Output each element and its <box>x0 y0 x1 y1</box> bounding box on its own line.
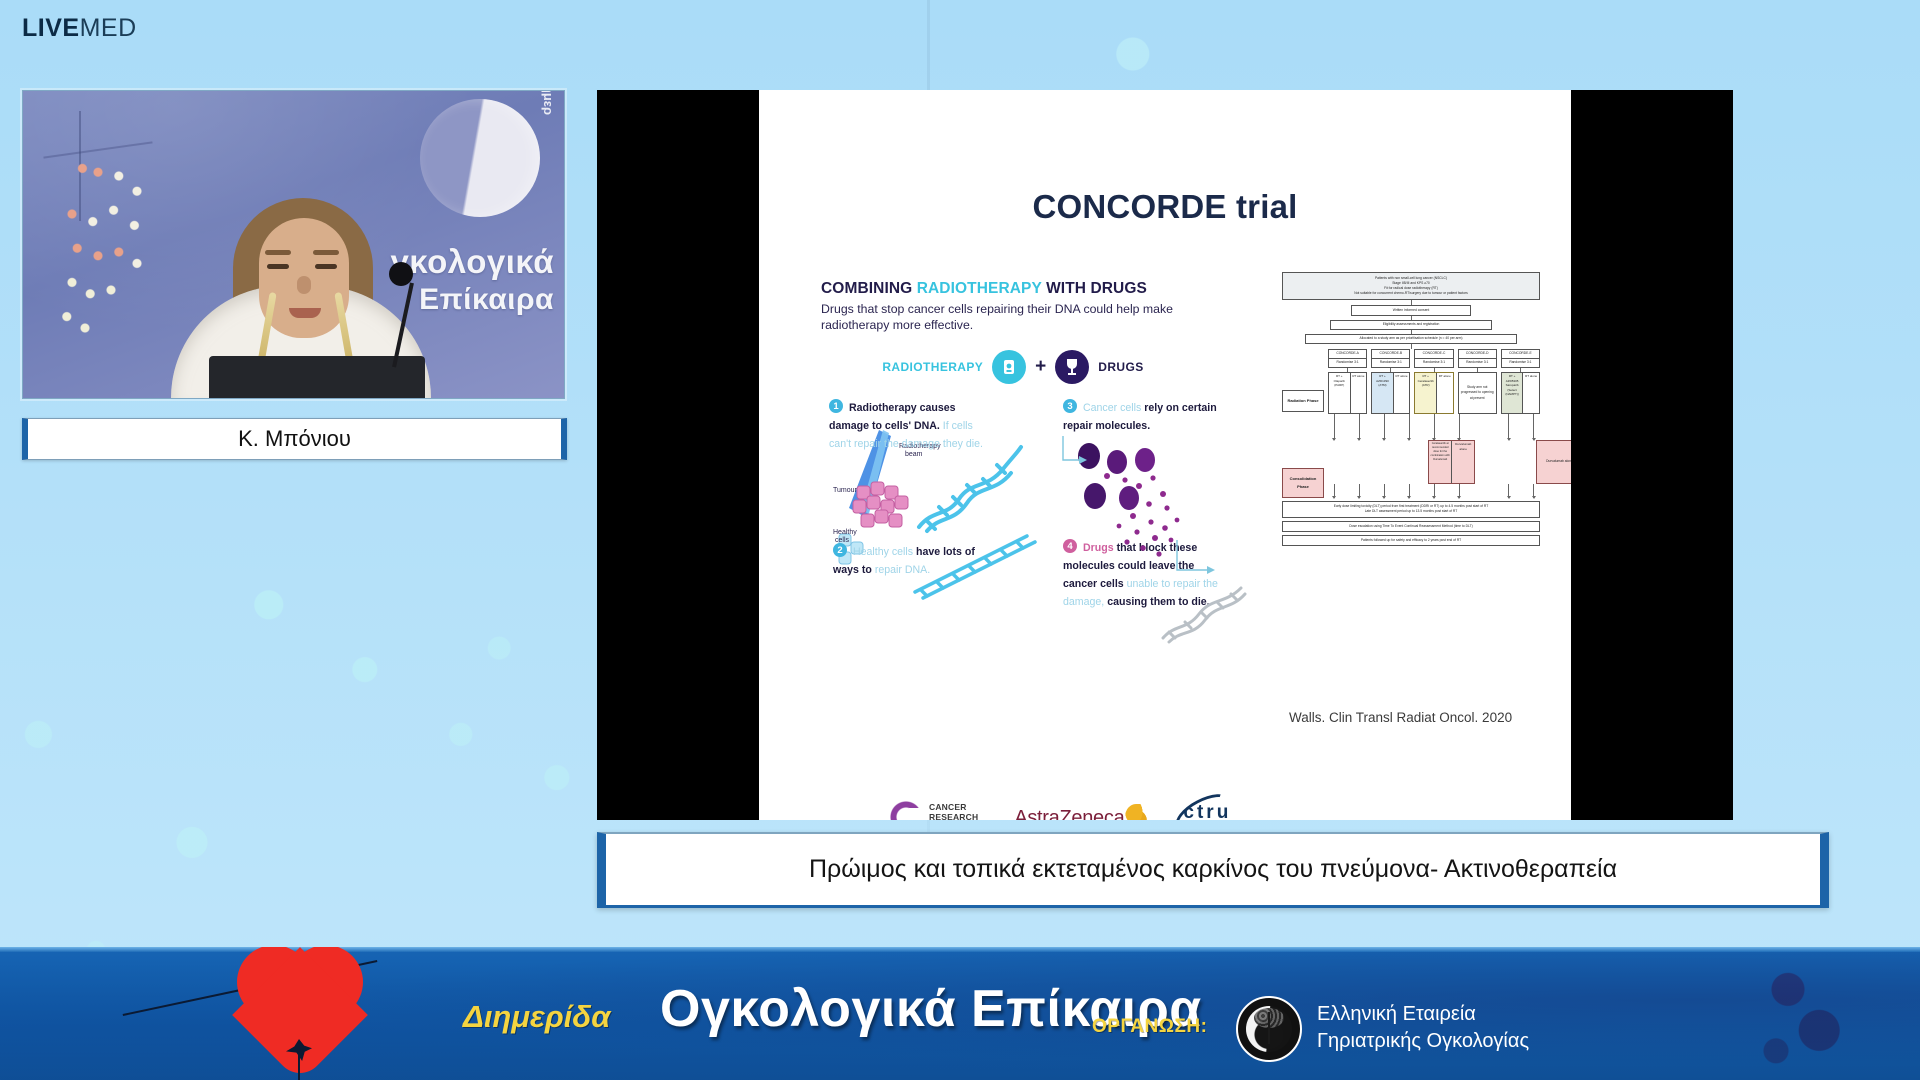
flow-arrow-row-2 <box>1328 484 1540 498</box>
infographic-subtitle: Drugs that stop cancer cells repairing t… <box>821 302 1221 334</box>
presentation-slide[interactable]: CONCORDE trial COMBINING RADIOTHERAPY WI… <box>759 90 1571 820</box>
flow-arrow2-a2 <box>1359 484 1360 498</box>
flow-arrow-b <box>1384 414 1385 440</box>
arm-c-randomise: Randomise 3:1 <box>1414 359 1453 368</box>
speaker-name-text: Κ. Μπόνιου <box>238 426 351 452</box>
flow-consolidation-phase-label: Consolidation Phase <box>1282 468 1324 498</box>
footer-dimerida-label: Διημερίδα <box>463 999 610 1035</box>
arm-e-title: CONCORDE-E <box>1501 349 1540 359</box>
radiotherapy-infographic: COMBINING RADIOTHERAPY WITH DRUGS Drugs … <box>821 280 1251 384</box>
heart-decoration <box>237 947 363 1053</box>
flow-consolidation-row: Ceralasertib at recommended dose for the… <box>1328 440 1540 484</box>
flow-arm-e: CONCORDE-E Randomise 3:1 RT + AZD5305 Sa… <box>1501 349 1540 414</box>
arm-c-left: RT + Ceralasertib (ATR) <box>1415 373 1437 413</box>
flow-arm-a: CONCORDE-A Randomise 3:1 RT + Olaparib (… <box>1328 349 1367 414</box>
arm-a-title: CONCORDE-A <box>1328 349 1367 359</box>
arm-a-randomise: Randomise 3:1 <box>1328 359 1367 368</box>
slide-stage[interactable]: CONCORDE trial COMBINING RADIOTHERAPY WI… <box>597 90 1733 820</box>
cruk-c-icon <box>889 800 923 820</box>
flow-arrow2-b <box>1384 484 1385 498</box>
heart-string-decoration <box>298 1043 300 1080</box>
speaker-name-plate: Κ. Μπόνιου <box>22 418 567 460</box>
infographic-heading: COMBINING RADIOTHERAPY WITH DRUGS <box>821 280 1251 298</box>
arm-b-title: CONCORDE-B <box>1371 349 1410 359</box>
arm-c-treatments: RT + Ceralasertib (ATR) RT alone <box>1414 372 1453 414</box>
footer-splatter-decoration <box>1740 951 1860 1079</box>
astrazeneca-swirl-icon <box>1125 804 1147 820</box>
flow-arms-row: CONCORDE-A Randomise 3:1 RT + Olaparib (… <box>1328 349 1540 414</box>
step-2-number: 2 <box>833 543 847 557</box>
ctru-logo: ctru University of Leeds <box>1183 802 1243 820</box>
infographic-heading-accent: RADIOTHERAPY <box>917 280 1042 297</box>
footer-organisation-label: ΟΡΓΑΝΩΣΗ: <box>1092 1016 1207 1038</box>
infographic-legend: RADIOTHERAPY + DRUGS <box>821 350 1251 384</box>
arm-d-title: CONCORDE-D <box>1458 349 1497 359</box>
speaker-brow-left <box>265 250 291 255</box>
legend-plus-sign: + <box>1035 356 1046 378</box>
cruk-line2: RESEARCH <box>929 812 978 820</box>
brand-light-text: MED <box>80 14 137 42</box>
session-caption-text: Πρώιμος και τοπικά εκτεταμένος καρκίνος … <box>809 855 1617 884</box>
infographic-heading-pre: COMBINING <box>821 280 917 297</box>
step-1-number: 1 <box>829 399 843 413</box>
geriatric-oncology-society-logo <box>1236 996 1302 1062</box>
legend-drugs-label: DRUGS <box>1098 360 1143 374</box>
flow-eligibility-box: Patients with non small-cell lung cancer… <box>1282 272 1540 300</box>
arm-e-randomise: Randomise 3:1 <box>1501 359 1540 368</box>
flow-followup-box: Patients followed up for safety and effi… <box>1282 535 1540 546</box>
speaker-eye-left <box>267 264 289 269</box>
svg-text:Healthy: Healthy <box>833 529 857 536</box>
consolidation-c-right: Durvalumab alone <box>1452 441 1474 483</box>
drugs-icon <box>1055 350 1089 384</box>
legend-radiotherapy-label: RADIOTHERAPY <box>882 360 983 374</box>
flow-radiation-phase-label: Radiation Phase <box>1282 390 1324 412</box>
arm-a-left: RT + Olaparib (PARP) <box>1329 373 1351 413</box>
arm-b-treatments: RT + AZD1390 (ATM) RT alone <box>1371 372 1410 414</box>
infographic-step-3: 3 Cancer cells rely on certain repair mo… <box>1063 398 1221 434</box>
flow-arrow2-e <box>1508 484 1509 498</box>
arm-a-right: RT alone <box>1351 373 1367 413</box>
flow-arm-c: CONCORDE-C Randomise 3:1 RT + Ceralasert… <box>1414 349 1453 414</box>
flow-arrow-e2 <box>1533 414 1534 440</box>
flow-arrow2-b2 <box>1409 484 1410 498</box>
flow-arrows-graphic <box>1057 430 1237 630</box>
arm-b-randomise: Randomise 3:1 <box>1371 359 1410 368</box>
flow-arrow-row <box>1328 414 1540 440</box>
speaker-brow-right <box>313 250 339 255</box>
arm-e-left: RT + AZD5305 Saruparib (Select (NAMPT)) <box>1502 373 1524 413</box>
cancer-research-uk-logo: CANCER RESEARCH UK <box>889 800 978 820</box>
step-3-number: 3 <box>1063 399 1077 413</box>
arm-b-right: RT alone <box>1394 373 1410 413</box>
backdrop-rotated-text: Διημερ <box>541 90 556 115</box>
svg-text:Tumour: Tumour <box>833 487 858 494</box>
arm-d-note: Study arm not progressed to opening at p… <box>1458 372 1497 414</box>
footer-organisation-name: Ελληνική Εταιρεία Γηριατρικής Ογκολογίας <box>1317 1001 1529 1055</box>
speaker-nose <box>297 276 311 294</box>
brand-bold-text: LIVE <box>22 14 80 42</box>
speaker-eye-right <box>315 264 337 269</box>
infographic-logos: CANCER RESEARCH UK AstraZeneca ctru Univ… <box>889 800 1309 820</box>
consolidation-c-left: Ceralasertib at recommended dose for the… <box>1429 441 1452 483</box>
flow-eligibility-line-4: Not suitable for concurrent chemo-RT/sur… <box>1286 291 1536 296</box>
flow-consent-box: Written informed consent <box>1351 305 1471 315</box>
consolidation-arm-e: Durvalumab alone <box>1536 440 1571 484</box>
slide-citation: Walls. Clin Transl Radiat Oncol. 2020 <box>1289 710 1512 725</box>
step-3-faint-lead: Cancer cells <box>1083 402 1141 414</box>
backdrop-dot-cluster <box>59 157 189 347</box>
microphone-icon <box>389 262 413 286</box>
society-logo-tree-trunk-icon <box>1268 1012 1270 1044</box>
flow-dlt-box: Early dose limiting toxicity (DLT) perio… <box>1282 501 1540 518</box>
arm-c-title: CONCORDE-C <box>1414 349 1453 359</box>
slide-title: CONCORDE trial <box>759 188 1571 226</box>
footer-organisation-line2: Γηριατρικής Ογκολογίας <box>1317 1028 1529 1055</box>
flow-arrow2-a <box>1334 484 1335 498</box>
livemed-logo[interactable]: LIVEMED <box>22 16 137 41</box>
infographic-heading-post: WITH DRUGS <box>1042 280 1147 297</box>
flow-arm-d: CONCORDE-D Randomise 3:1 Study arm not p… <box>1458 349 1497 414</box>
cruk-logo-text: CANCER RESEARCH UK <box>929 802 978 820</box>
session-caption-bar: Πρώιμος και τοπικά εκτεταμένος καρκίνος … <box>597 832 1829 908</box>
astrazeneca-text: AstraZeneca <box>1014 807 1124 820</box>
concorde-trial-flowchart: Patients with non small-cell lung cancer… <box>1282 272 1540 546</box>
flow-arrow-b2 <box>1409 414 1410 440</box>
flow-arrow-a2 <box>1359 414 1360 440</box>
arm-b-left: RT + AZD1390 (ATM) <box>1372 373 1394 413</box>
flow-arrow2-c <box>1434 484 1435 498</box>
flow-arrow2-c2 <box>1459 484 1460 498</box>
step-1-dark-text: Radiotherapy causes damage to cells' DNA… <box>829 402 956 432</box>
astrazeneca-logo: AstraZeneca <box>1014 804 1147 820</box>
society-logo-inner <box>1246 1006 1292 1052</box>
footer-organisation-line1: Ελληνική Εταιρεία <box>1317 1001 1529 1028</box>
flow-arrow-e <box>1508 414 1509 440</box>
dna-strand-graphic-1 <box>907 435 1027 535</box>
speaker-mouth <box>289 308 321 318</box>
flow-arrow-a <box>1334 414 1335 440</box>
flow-registration-box: Eligibility assessments and registration <box>1330 320 1492 330</box>
flow-arrow-c2 <box>1459 414 1460 440</box>
flow-arrow-c <box>1434 414 1435 440</box>
consolidation-arm-c: Ceralasertib at recommended dose for the… <box>1428 440 1475 484</box>
flow-arm-b: CONCORDE-B Randomise 3:1 RT + AZD1390 (A… <box>1371 349 1410 414</box>
flow-allocation-box: Allocated to a study arm as per prioriti… <box>1305 334 1517 344</box>
arm-a-treatments: RT + Olaparib (PARP) RT alone <box>1328 372 1367 414</box>
speaker-video-feed[interactable]: Διημερ γκολογικά Επίκαιρα <box>22 90 565 399</box>
radiotherapy-icon <box>992 350 1026 384</box>
backdrop-moon-graphic <box>420 99 540 217</box>
speaker-person <box>171 184 431 399</box>
step-2-faint-lead: Healthy cells <box>853 546 913 558</box>
flow-arrow2-e2 <box>1533 484 1534 498</box>
arm-c-right: RT alone <box>1437 373 1453 413</box>
event-footer: Διημερίδα Ογκολογικά Επίκαιρα ΟΡΓΑΝΩΣΗ: … <box>0 947 1920 1080</box>
cruk-line1: CANCER <box>929 802 978 812</box>
arm-e-right: RT alone <box>1523 373 1539 413</box>
arm-e-treatments: RT + AZD5305 Saruparib (Select (NAMPT)) … <box>1501 372 1540 414</box>
flow-dose-escalation-box: Dose escalation using Time To Event Cont… <box>1282 521 1540 532</box>
arm-d-randomise: Randomise 3:1 <box>1458 359 1497 368</box>
dna-strand-graphic-2 <box>909 530 1049 600</box>
